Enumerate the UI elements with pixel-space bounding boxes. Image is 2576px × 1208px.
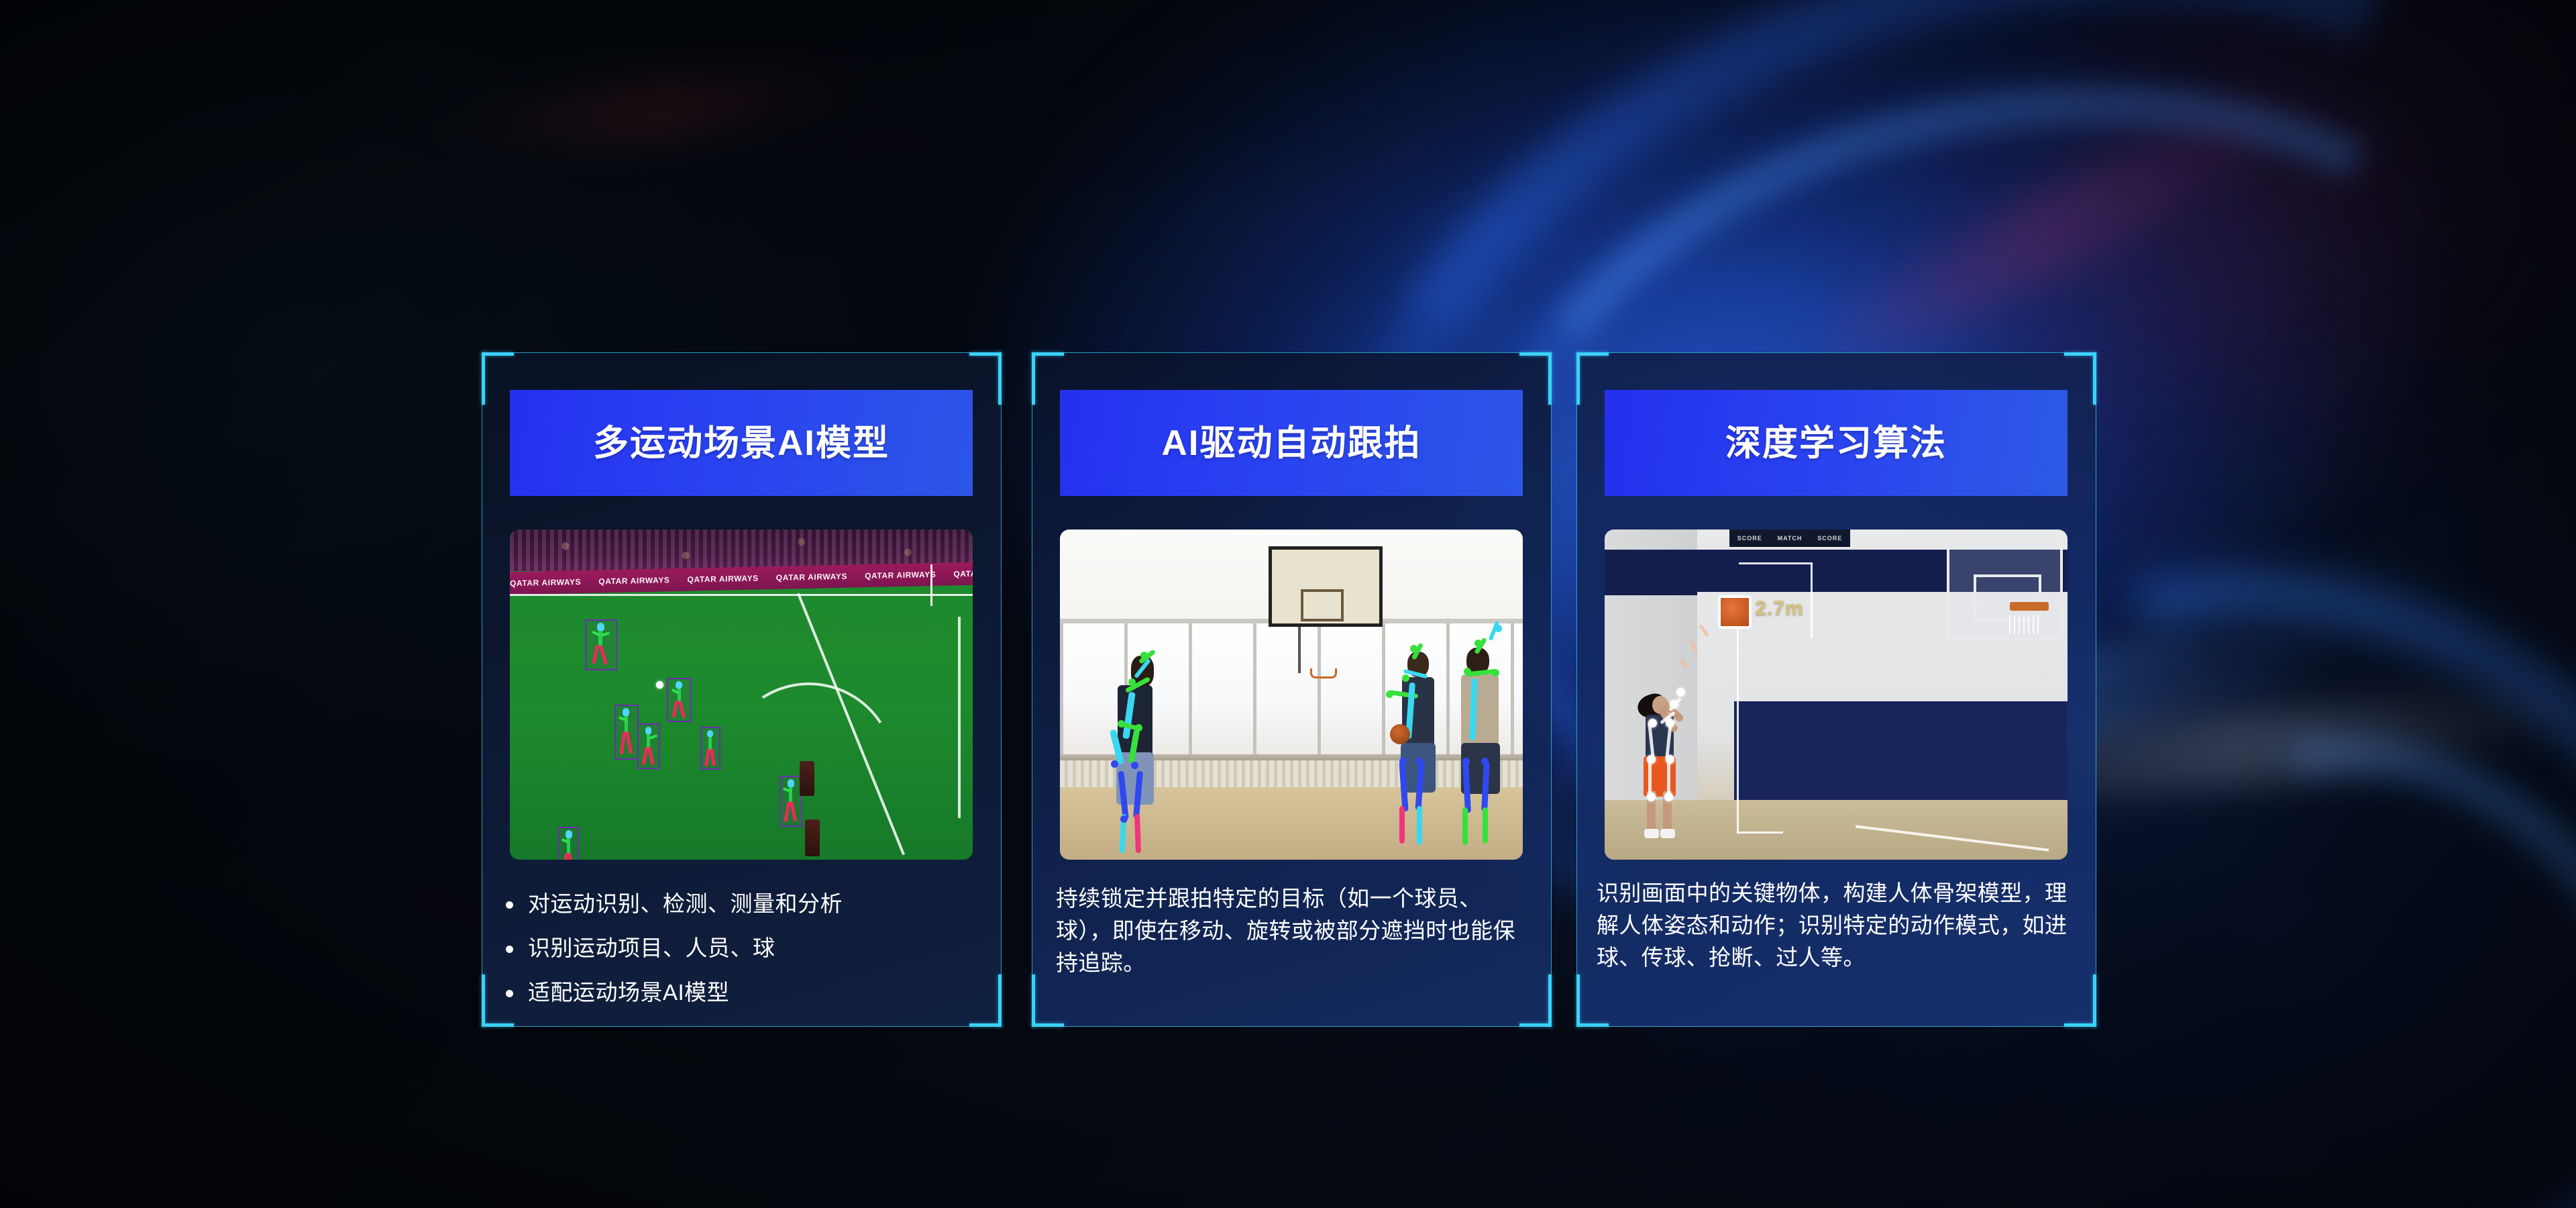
detection-box — [700, 727, 720, 770]
trajectory-dash — [1699, 623, 1709, 636]
shooter-shoe — [1660, 829, 1675, 838]
gym-image — [1060, 530, 1523, 860]
tracked-person-left — [1100, 650, 1194, 858]
goal-post — [930, 564, 932, 606]
soccer-pitch-image: QATAR AIRWAYS QATAR AIRWAYS QATAR AIRWAY… — [510, 530, 973, 860]
card-description: 识别画面中的关键物体，构建人体骨架模型，理解人体姿态和动作；识别特定的动作模式，… — [1597, 877, 2082, 974]
basketball-hoop — [1310, 668, 1337, 678]
sponsor-text: QATAR AIRWAYS — [688, 573, 759, 584]
list-item: 对运动识别、检测、测量和分析 — [506, 889, 983, 919]
detection-box — [780, 776, 802, 827]
measurement-line-vertical — [1811, 562, 1813, 638]
sponsor-text: QATAR AIRWAYS — [776, 572, 847, 583]
tracked-shooter — [1632, 685, 1686, 840]
measurement-line-base — [1737, 832, 1783, 834]
soccer-ball — [656, 681, 663, 689]
detection-box — [558, 827, 580, 860]
measurement-label: 2.7m — [1755, 597, 1803, 620]
pitch-line-right — [958, 617, 961, 818]
measurement-line-horizontal — [1739, 562, 1813, 564]
tracked-ball-box — [1718, 595, 1752, 629]
card-bullet-list: 对运动识别、检测、测量和分析 识别运动项目、人员、球 适配运动场景AI模型 — [506, 889, 983, 1023]
pose-skeleton — [639, 725, 659, 768]
pose-skeleton — [586, 621, 616, 669]
card-title: 多运动场景AI模型 — [593, 425, 890, 461]
pose-skeleton — [702, 728, 719, 768]
sponsor-text: QATAR AIRWAYS — [953, 568, 973, 578]
pitch-line-top — [510, 594, 973, 596]
bullet-label: 适配运动场景AI模型 — [528, 978, 729, 1007]
detection-box — [585, 619, 617, 670]
indoor-court-image: SCORE MATCH SCORE 2.7m — [1605, 530, 2068, 860]
bullet-label: 识别运动项目、人员、球 — [528, 934, 775, 963]
pose-skeleton — [781, 777, 801, 825]
bullet-dot-icon — [506, 946, 513, 953]
detection-box — [614, 705, 639, 760]
list-item: 适配运动场景AI模型 — [506, 978, 983, 1007]
court-pillar-band — [1605, 550, 1697, 596]
detection-box — [637, 723, 660, 769]
scoreboard: SCORE MATCH SCORE — [1729, 530, 1849, 547]
bullet-dot-icon — [506, 901, 513, 909]
undetected-player — [800, 761, 814, 796]
card-title: AI驱动自动跟拍 — [1162, 425, 1421, 461]
sponsor-text: QATAR AIRWAYS — [598, 575, 669, 586]
scoreboard-label: MATCH — [1778, 535, 1803, 542]
basketball-net — [2009, 615, 2040, 634]
basketball-rim — [2010, 602, 2049, 611]
card-title-banner: 深度学习算法 — [1605, 390, 2068, 496]
court-wall-padding — [1734, 701, 2068, 801]
card-title-banner: AI驱动自动跟拍 — [1060, 390, 1523, 496]
scoreboard-label: SCORE — [1737, 535, 1762, 542]
measurement-line-vertical-left — [1737, 602, 1739, 833]
feature-card-multi-sport-ai-model[interactable]: 多运动场景AI模型 QATAR AIRWAYS QATAR AIRWAYS QA… — [482, 352, 1002, 1027]
card-title: 深度学习算法 — [1725, 425, 1947, 461]
sponsor-text: QATAR AIRWAYS — [865, 570, 936, 581]
card-media-soccer-detection: QATAR AIRWAYS QATAR AIRWAYS QATAR AIRWAY… — [510, 530, 973, 860]
shooter-shoe — [1644, 829, 1659, 838]
list-item: 识别运动项目、人员、球 — [506, 934, 983, 963]
scoreboard-label: SCORE — [1817, 535, 1842, 542]
card-media-basketball-pose — [1060, 530, 1523, 860]
pose-skeleton — [668, 679, 690, 721]
backboard — [1947, 536, 2063, 641]
detection-box — [667, 678, 692, 722]
keypoint — [1670, 700, 1678, 709]
bullet-label: 对运动识别、检测、测量和分析 — [528, 889, 843, 919]
feature-card-deep-learning-algorithm[interactable]: 深度学习算法 SCORE MATCH SCORE — [1576, 352, 2096, 1027]
bullet-dot-icon — [506, 990, 513, 997]
tracked-person-right-b — [1436, 622, 1523, 857]
basketball — [1390, 724, 1410, 744]
card-description: 持续锁定并跟拍特定的目标（如一个球员、球），即使在移动、旋转或被部分遮挡时也能保… — [1056, 883, 1532, 980]
feature-card-ai-auto-tracking[interactable]: AI驱动自动跟拍 — [1032, 352, 1552, 1027]
card-media-shot-measurement: SCORE MATCH SCORE 2.7m — [1605, 530, 2068, 860]
card-title-banner: 多运动场景AI模型 — [510, 390, 973, 496]
undetected-player — [805, 819, 820, 856]
feature-card-row: 多运动场景AI模型 QATAR AIRWAYS QATAR AIRWAYS QA… — [0, 0, 2576, 1208]
pose-skeleton — [559, 828, 578, 860]
keypoint — [1664, 793, 1673, 801]
sponsor-text: QATAR AIRWAYS — [510, 577, 581, 588]
backboard-inner-square — [1301, 589, 1344, 621]
keypoint — [1676, 688, 1685, 697]
pose-skeleton — [616, 706, 637, 758]
